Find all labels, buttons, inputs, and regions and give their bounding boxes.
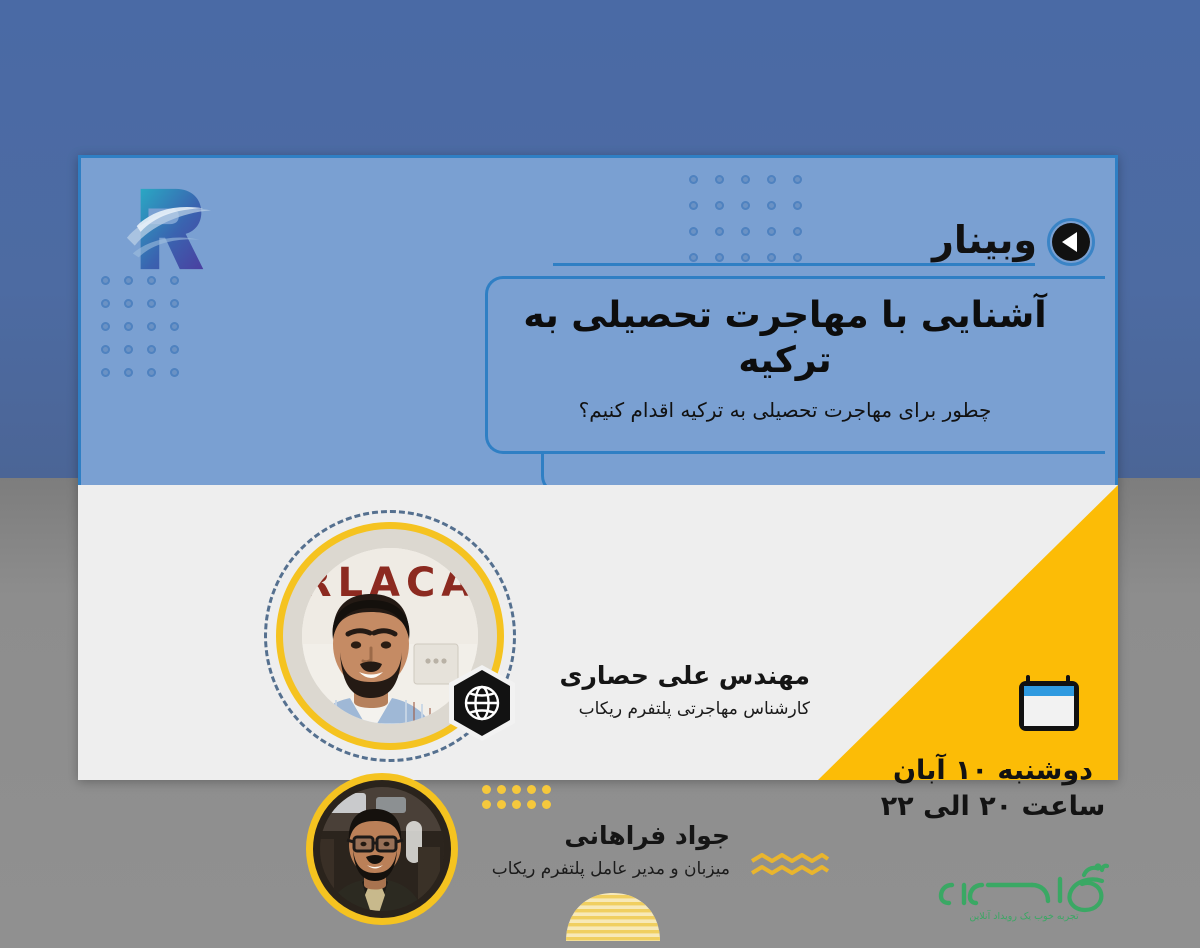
dot [689,201,698,210]
dot [741,253,750,262]
dot [715,175,724,184]
poster-top-panel: وبینار آشنایی با مهاجرت تحصیلی به ترکیه … [78,155,1118,485]
dot [124,322,133,331]
dot [170,345,179,354]
webinar-label: وبینار [932,221,1037,263]
dot [689,253,698,262]
dot [689,227,698,236]
dot [497,800,506,809]
ricab-r-airplane-logo [121,183,219,275]
dot [147,299,156,308]
speaker-role: میزبان و مدیر عامل پلتفرم ریکاب [470,857,730,883]
dot [101,299,110,308]
dot [542,800,551,809]
dot [527,785,536,794]
dot [715,253,724,262]
schedule-time: ساعت ۲۰ الی ۲۲ [868,789,1118,825]
play-triangle-icon [1062,232,1077,252]
speaker-info-1: مهندس علی حصاری کارشناس مهاجرتی پلتفرم ر… [530,660,810,722]
dot [170,368,179,377]
dot [101,276,110,285]
dot [715,201,724,210]
dot [101,368,110,377]
page-subtitle: چطور برای مهاجرت تحصیلی به ترکیه اقدام ک… [485,398,1085,422]
platform-tagline: تجربه خوب یک رویداد آنلاین [969,909,1079,922]
dot [101,322,110,331]
dot [512,785,521,794]
dot [170,276,179,285]
dot [482,785,491,794]
schedule-date: دوشنبه ۱۰ آبان [868,753,1118,789]
globe-badge [446,663,518,743]
dot [147,345,156,354]
dot [124,345,133,354]
dot [124,299,133,308]
webinar-label-row: وبینار [932,218,1095,266]
dot [767,201,776,210]
dot [793,201,802,210]
title-frame-border-extension [541,454,1118,485]
dot [124,276,133,285]
dot [170,299,179,308]
banner-canvas: وبینار آشنایی با مهاجرت تحصیلی به ترکیه … [0,0,1200,948]
speaker-role: کارشناس مهاجرتی پلتفرم ریکاب [530,697,810,723]
dot [482,800,491,809]
dot [741,227,750,236]
photo-image [320,787,444,911]
dot [147,322,156,331]
zigzag-wave-decoration [750,853,830,879]
dot [527,800,536,809]
dot [741,201,750,210]
platform-logo[interactable]: تجربه خوب یک رویداد آنلاین [926,857,1122,923]
dot [542,785,551,794]
dot [767,253,776,262]
dot [170,322,179,331]
dot [512,800,521,809]
dot [767,227,776,236]
dot [793,227,802,236]
dot [101,345,110,354]
play-icon-disc [1052,223,1090,261]
dot [715,227,724,236]
speaker-name: مهندس علی حصاری [530,660,810,693]
play-circle-icon[interactable] [1047,218,1095,266]
speaker-photo-javad-farahani [306,773,458,925]
dot [767,175,776,184]
striped-dome-decoration [563,893,663,941]
header-rule-line [553,263,1035,266]
dot [147,276,156,285]
page-title: آشنایی با مهاجرت تحصیلی به ترکیه [485,293,1085,383]
dot [497,785,506,794]
dot [741,175,750,184]
speaker-info-2: جواد فراهانی میزبان و مدیر عامل پلتفرم ر… [470,820,730,882]
schedule-text: دوشنبه ۱۰ آبان ساعت ۲۰ الی ۲۲ [868,753,1118,826]
dot [689,175,698,184]
dot [124,368,133,377]
photo-yellow-ring [306,773,458,925]
dot [793,253,802,262]
speaker-name: جواد فراهانی [470,820,730,853]
calendar-icon [1016,673,1082,735]
webinar-poster-card: وبینار آشنایی با مهاجرت تحصیلی به ترکیه … [78,155,1118,780]
dot [147,368,156,377]
dot [793,175,802,184]
